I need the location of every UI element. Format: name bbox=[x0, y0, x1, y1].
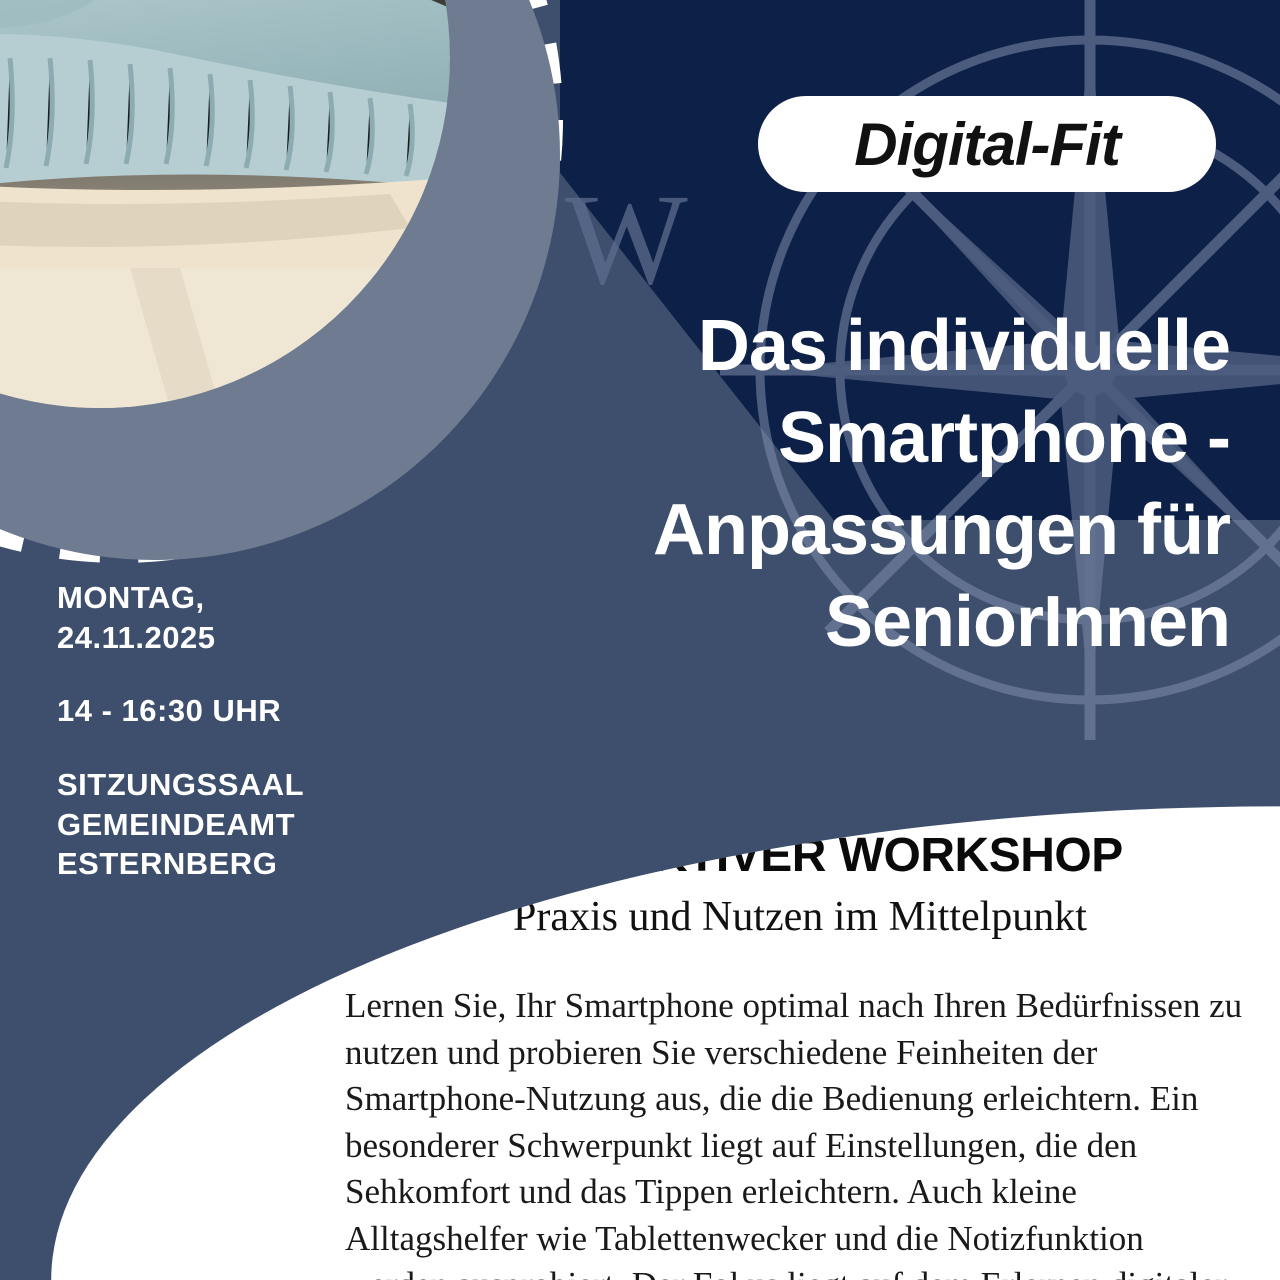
venue-line-3: ESTERNBERG bbox=[57, 844, 387, 884]
event-date-value: 24.11.2025 bbox=[57, 618, 387, 658]
event-time: 14 - 16:30 UHR bbox=[57, 691, 387, 731]
poster-canvas: W bbox=[0, 0, 1280, 1280]
event-date: MONTAG, 24.11.2025 bbox=[57, 578, 387, 657]
venue-line-1: SITZUNGSSAAL bbox=[57, 765, 387, 805]
event-details: MONTAG, 24.11.2025 14 - 16:30 UHR SITZUN… bbox=[57, 578, 387, 884]
digital-fit-badge[interactable]: Digital-Fit bbox=[758, 96, 1216, 192]
page-title: Das individuelle Smartphone - Anpassunge… bbox=[500, 300, 1230, 669]
event-date-weekday: MONTAG, bbox=[57, 578, 387, 618]
venue-line-2: GEMEINDEAMT bbox=[57, 805, 387, 845]
event-venue: SITZUNGSSAAL GEMEINDEAMT ESTERNBERG bbox=[57, 765, 387, 884]
title-line-1: Das individuelle bbox=[500, 300, 1230, 392]
event-time-value: 14 - 16:30 UHR bbox=[57, 691, 387, 731]
title-line-3: Anpassungen für bbox=[500, 484, 1230, 576]
title-line-4: SeniorInnen bbox=[500, 576, 1230, 668]
badge-label: Digital-Fit bbox=[854, 110, 1120, 179]
workshop-description: Lernen Sie, Ihr Smartphone optimal nach … bbox=[345, 983, 1255, 1280]
title-line-2: Smartphone - bbox=[500, 392, 1230, 484]
compass-west-label: W bbox=[565, 175, 688, 305]
